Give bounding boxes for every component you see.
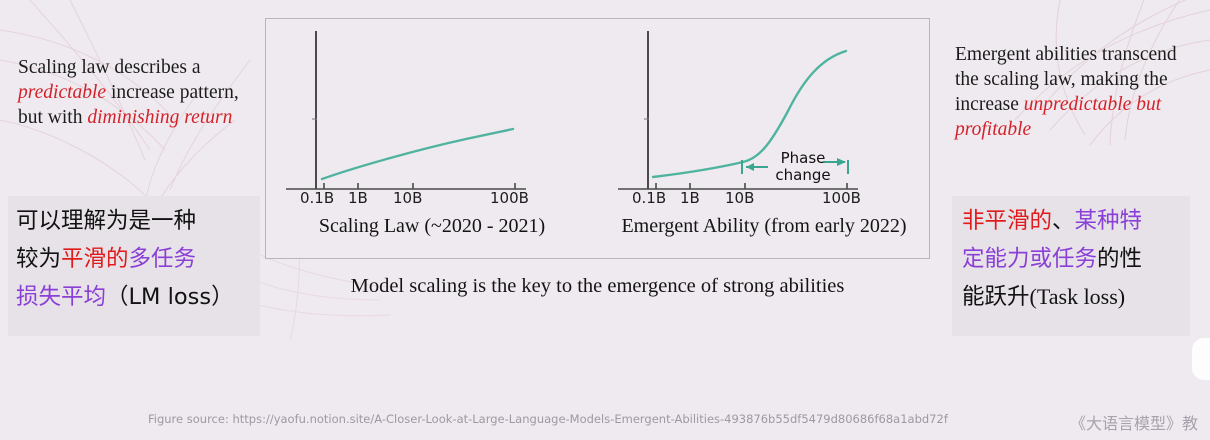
cjk-callout-right: 非平滑的、某种特 定能力或任务的性 能跃升(Task loss) [952,196,1190,336]
cjk-right-line1-black: 、 [1052,208,1075,234]
cjk-left-line1-text: 可以理解为是一种 [16,208,196,234]
footer-figure-source: Figure source: https://yaofu.notion.site… [148,412,948,426]
cjk-right-line2: 定能力或任务的性 [962,240,1180,278]
left-para-emphasis-predictable: predictable [18,82,106,103]
cjk-left-line2-purple: 多任务 [129,246,197,272]
right-explanation-paragraph: Emergent abilities transcend the scaling… [955,42,1205,142]
cjk-left-line1: 可以理解为是一种 [16,202,252,240]
x-tick-label-10B-left: 10B [393,189,422,207]
slide-footer: Figure source: https://yaofu.notion.site… [0,412,1210,440]
chart-panel-scaling-law: 0.1B 1B 10B 100B Scaling Law (~2020 - 20… [266,19,598,258]
cjk-left-line2-black: 较为 [16,246,61,272]
chart-caption-scaling-law: Scaling Law (~2020 - 2021) [266,215,598,238]
scaling-law-curve [322,129,513,179]
edge-rounded-widget[interactable] [1192,338,1210,380]
cjk-right-line1: 非平滑的、某种特 [962,202,1180,240]
x-tick-label-10B-right: 10B [725,189,754,207]
chart-caption-emergent-ability: Emergent Ability (from early 2022) [598,215,930,238]
x-tick-label-1B-right: 1B [680,189,700,207]
cjk-left-line2-red: 平滑的 [61,246,129,272]
phase-change-annotation-label: Phase change [768,150,838,184]
figure-bottom-caption: Model scaling is the key to the emergenc… [265,275,930,298]
footer-book-title: 《大语言模型》教 [1070,410,1198,434]
cjk-right-line3-black: 能跃升 [962,284,1030,310]
cjk-left-line3: 损失平均（LM loss） [16,278,252,316]
cjk-callout-left: 可以理解为是一种 较为平滑的多任务 损失平均（LM loss） [8,196,260,336]
chart-panel-emergent-ability: Phase change 0.1B 1B 10B 100B Emergent A… [598,19,930,258]
x-tick-label-0.1B-left: 0.1B [300,189,334,207]
cjk-right-line2-black: 的性 [1097,246,1142,272]
cjk-right-line2-purple: 定能力或任务 [962,246,1097,272]
cjk-left-line2: 较为平滑的多任务 [16,240,252,278]
x-tick-label-1B-left: 1B [348,189,368,207]
cjk-left-line3-black: （LM loss） [106,284,234,310]
phase-left-arrow-head [746,163,754,171]
slide-canvas: Scaling law describes a predictable incr… [0,0,1210,440]
figure-frame: 0.1B 1B 10B 100B Scaling Law (~2020 - 20… [265,18,930,259]
cjk-right-line1-red: 非平滑的 [962,208,1052,234]
cjk-right-line1-purple: 某种特 [1075,208,1143,234]
phase-change-line1: Phase [768,150,838,167]
left-explanation-paragraph: Scaling law describes a predictable incr… [18,55,268,130]
cjk-left-line3-purple: 损失平均 [16,284,106,310]
cjk-right-line3-latin: (Task loss) [1030,284,1126,309]
phase-change-line2: change [768,167,838,184]
cjk-right-line3: 能跃升(Task loss) [962,278,1180,316]
x-tick-label-100B-left: 100B [490,189,529,207]
phase-right-arrow-head [837,158,846,166]
x-tick-label-100B-right: 100B [822,189,861,207]
left-para-seg1: Scaling law describes a [18,57,200,78]
left-para-emphasis-diminishing-return: diminishing return [87,107,232,128]
x-tick-label-0.1B-right: 0.1B [632,189,666,207]
